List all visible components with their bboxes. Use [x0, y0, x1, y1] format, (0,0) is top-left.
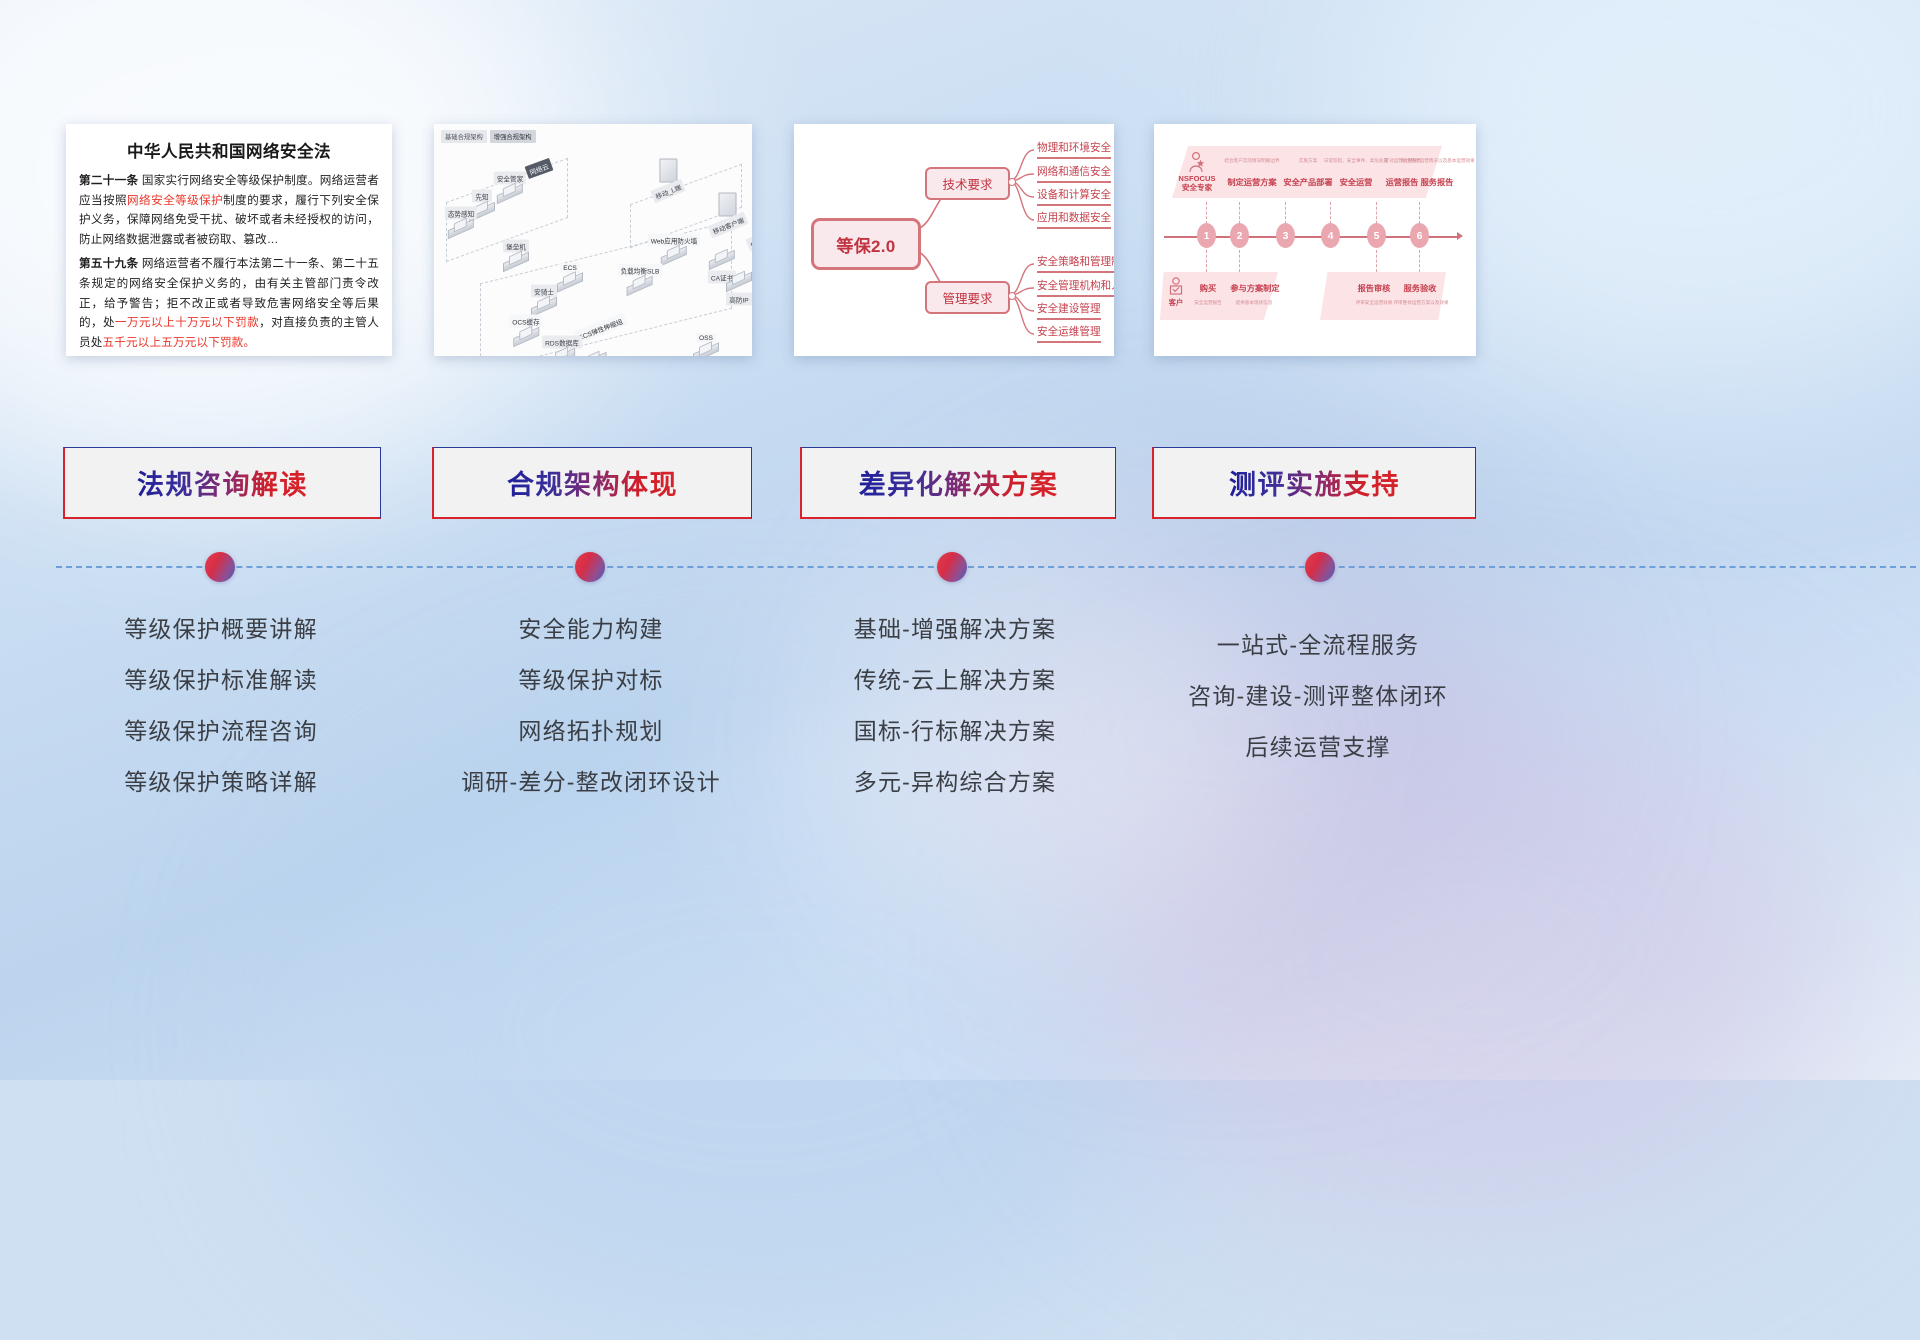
section-title-box-2[interactable]: 合规架构体现	[432, 447, 752, 519]
timeline-link-8	[1239, 250, 1241, 272]
list-item: 后续运营支撑	[1140, 722, 1496, 773]
architecture-node-slb: 负载均衡SLB	[618, 262, 663, 295]
list-item: 等级保护标准解读	[40, 655, 402, 706]
preview-card-architecture[interactable]: 基础合规架构 增强合规架构 网络云 安全管家 先知	[434, 124, 752, 356]
section-title-label-2: 合规架构体现	[507, 463, 678, 502]
list-item: 安全能力构建	[410, 604, 772, 655]
timeline-link-9	[1376, 250, 1378, 272]
vendor-step-5-caption: 服务报告	[1404, 176, 1470, 188]
mindmap-leaf-mgmt-1: 安全策略和管理制度	[1037, 254, 1114, 273]
mindmap-leaf-tech-3: 设备和计算安全	[1037, 187, 1111, 206]
section-items-column-2: 安全能力构建 等级保护对标 网络拓扑规划 调研-差分-整改闭环设计	[410, 604, 772, 808]
timeline-link-4	[1330, 202, 1332, 224]
architecture-tab-basic[interactable]: 基础合规架构	[441, 130, 487, 143]
mindmap-collapse-icon-technical[interactable]	[1008, 178, 1016, 186]
customer-step-3-caption: 报告审核	[1350, 282, 1398, 294]
architecture-canvas: 网络云 安全管家 先知 态势感知 堡垒机	[434, 124, 752, 356]
list-item: 等级保护概要讲解	[40, 604, 402, 655]
section-title-row: 法规咨询解读 合规架构体现 差异化解决方案 测评实施支持	[0, 447, 1920, 521]
law-article-21: 第二十一条 国家实行网络安全等级保护制度。网络运营者应当按照网络安全等级保护制度…	[79, 171, 379, 249]
timeline-node-4[interactable]: 4	[1321, 223, 1340, 248]
rail-marker-1[interactable]	[205, 552, 235, 582]
architecture-node-pc-client: PC客户端	[747, 207, 752, 246]
section-title-label-1: 法规咨询解读	[137, 463, 308, 502]
architecture-node-oss: OSS	[693, 331, 719, 356]
timeline-link-2	[1239, 202, 1241, 224]
list-item: 等级保护策略详解	[40, 757, 402, 808]
law-article-21-label: 第二十一条	[79, 174, 138, 187]
architecture-tab-enhanced[interactable]: 增强合规架构	[490, 130, 536, 143]
timeline-node-3[interactable]: 3	[1276, 223, 1295, 248]
timeline-node-5[interactable]: 5	[1367, 223, 1386, 248]
section-title-box-3[interactable]: 差异化解决方案	[800, 447, 1116, 519]
mindmap-diagram: 等保2.0 技术要求 物理和环境安全 网络和通信安全 设备和计算安全 应用和数据…	[794, 124, 1114, 356]
timeline-link-5	[1376, 202, 1378, 224]
section-items-column-3: 基础-增强解决方案 传统-云上解决方案 国标-行标解决方案 多元-异构综合方案	[772, 604, 1138, 808]
timeline-link-6	[1419, 202, 1421, 224]
timeline-link-7	[1206, 250, 1208, 272]
architecture-node-anqishi: 安骑士	[531, 283, 557, 316]
timeline-node-6[interactable]: 6	[1410, 223, 1429, 248]
law-article-59-fine-1: 一万元以上十万元以下罚款	[115, 316, 259, 329]
section-title-label-3: 差异化解决方案	[859, 463, 1059, 502]
vendor-expert-icon	[1188, 151, 1205, 173]
preview-card-law[interactable]: 中华人民共和国网络安全法 第二十一条 国家实行网络安全等级保护制度。网络运营者应…	[66, 124, 392, 356]
timeline-node-2[interactable]: 2	[1230, 223, 1249, 248]
law-document: 中华人民共和国网络安全法 第二十一条 国家实行网络安全等级保护制度。网络运营者应…	[66, 124, 392, 356]
mindmap-leaf-tech-2: 网络和通信安全	[1037, 164, 1111, 183]
preview-card-timeline[interactable]: NSFOCUS 安全专家 结合客户实际情况明确边界 制定运营方案 实施方案 安全…	[1154, 124, 1476, 356]
architecture-tab-strip: 基础合规架构 增强合规架构	[441, 130, 536, 143]
mindmap-branch-management[interactable]: 管理要求	[925, 281, 1010, 314]
list-item: 基础-增强解决方案	[772, 604, 1138, 655]
timeline-arrow-icon	[1457, 232, 1463, 240]
mindmap-branch-technical[interactable]: 技术要求	[925, 167, 1010, 200]
architecture-node-bastion: 堡垒机	[503, 238, 529, 271]
rail-marker-2[interactable]	[575, 552, 605, 582]
architecture-node-mobile-terminal: 移动_L端	[651, 159, 684, 198]
timeline-link-3	[1285, 202, 1287, 224]
customer-step-4-sub: 评审整体运营方案以及效果	[1388, 300, 1454, 306]
vendor-step-5-sub: 给出整体运营情况以及基本运营效果	[1398, 158, 1476, 164]
mindmap-collapse-icon-management[interactable]	[1008, 292, 1016, 300]
preview-card-row: 中华人民共和国网络安全法 第二十一条 国家实行网络安全等级保护制度。网络运营者应…	[0, 124, 1920, 366]
section-title-label-4: 测评实施支持	[1229, 463, 1400, 502]
customer-step-4-caption: 服务验收	[1396, 282, 1444, 294]
rail-marker-3[interactable]	[937, 552, 967, 582]
mindmap-leaf-tech-1: 物理和环境安全	[1037, 140, 1111, 159]
list-item: 等级保护流程咨询	[40, 706, 402, 757]
customer-icon	[1168, 276, 1184, 297]
slide-stage: 中华人民共和国网络安全法 第二十一条 国家实行网络安全等级保护制度。网络运营者应…	[0, 0, 1920, 1080]
cloud-architecture-diagram: 基础合规架构 增强合规架构 网络云 安全管家 先知	[434, 124, 752, 356]
list-item: 调研-差分-整改闭环设计	[410, 757, 772, 808]
timeline-rail	[56, 566, 1916, 568]
timeline-link-10	[1419, 250, 1421, 272]
law-article-21-highlight: 网络安全等级保护	[127, 194, 223, 207]
architecture-node-security-butler: 安全管家	[494, 170, 526, 203]
architecture-node-waf: Web应用防火墙	[648, 232, 700, 265]
rail-marker-4[interactable]	[1305, 552, 1335, 582]
list-item: 网络拓扑规划	[410, 706, 772, 757]
list-item: 国标-行标解决方案	[772, 706, 1138, 757]
architecture-node-ocs-cache: OCS缓存	[509, 313, 542, 346]
list-item: 一站式-全流程服务	[1140, 620, 1496, 671]
customer-step-2-sub: 提供基本现状信息	[1224, 300, 1284, 306]
list-item: 传统-云上解决方案	[772, 655, 1138, 706]
section-items-column-4: 一站式-全流程服务 咨询-建设-测评整体闭环 后续运营支撑	[1140, 604, 1496, 773]
mindmap-leaf-mgmt-2: 安全管理机构和人员	[1037, 278, 1114, 297]
mindmap-leaf-tech-4: 应用和数据安全	[1037, 210, 1111, 229]
mindmap-leaf-mgmt-4: 安全运维管理	[1037, 324, 1101, 343]
architecture-node-db-audit: 数据库审计	[575, 353, 614, 357]
architecture-node-anti-ddos-ip: 高防IP	[726, 273, 752, 306]
customer-step-2-caption: 参与方案制定	[1224, 282, 1286, 294]
list-item: 多元-异构综合方案	[772, 757, 1138, 808]
timeline-node-1[interactable]: 1	[1197, 223, 1216, 248]
section-title-box-1[interactable]: 法规咨询解读	[63, 447, 381, 519]
preview-card-mindmap[interactable]: 等保2.0 技术要求 物理和环境安全 网络和通信安全 设备和计算安全 应用和数据…	[794, 124, 1114, 356]
section-title-box-4[interactable]: 测评实施支持	[1152, 447, 1476, 519]
mindmap-leaf-mgmt-3: 安全建设管理	[1037, 301, 1101, 320]
service-timeline-diagram: NSFOCUS 安全专家 结合客户实际情况明确边界 制定运营方案 实施方案 安全…	[1154, 124, 1476, 356]
architecture-node-mobile-client: 移动客户端	[709, 193, 748, 232]
architecture-node-ecs: ECS	[557, 261, 583, 291]
law-article-59-label: 第五十九条	[79, 257, 138, 270]
list-item: 等级保护对标	[410, 655, 772, 706]
law-article-59-fine-2: 五千元以上五万元以下罚款。	[103, 336, 256, 349]
law-title: 中华人民共和国网络安全法	[79, 138, 379, 162]
customer-step-1-caption: 购买	[1190, 282, 1226, 294]
architecture-node-situation-awareness: 态势感知	[445, 205, 477, 238]
section-items-column-1: 等级保护概要讲解 等级保护标准解读 等级保护流程咨询 等级保护策略详解	[40, 604, 402, 808]
law-article-59: 第五十九条 网络运营者不履行本法第二十一条、第二十五条规定的网络安全保护义务的，…	[79, 254, 379, 352]
mindmap-root-node[interactable]: 等保2.0	[811, 218, 921, 270]
customer-label: 客户	[1164, 298, 1188, 308]
list-item: 咨询-建设-测评整体闭环	[1140, 671, 1496, 722]
timeline-customer-band-right	[1320, 272, 1446, 320]
timeline-link-1	[1206, 202, 1208, 224]
